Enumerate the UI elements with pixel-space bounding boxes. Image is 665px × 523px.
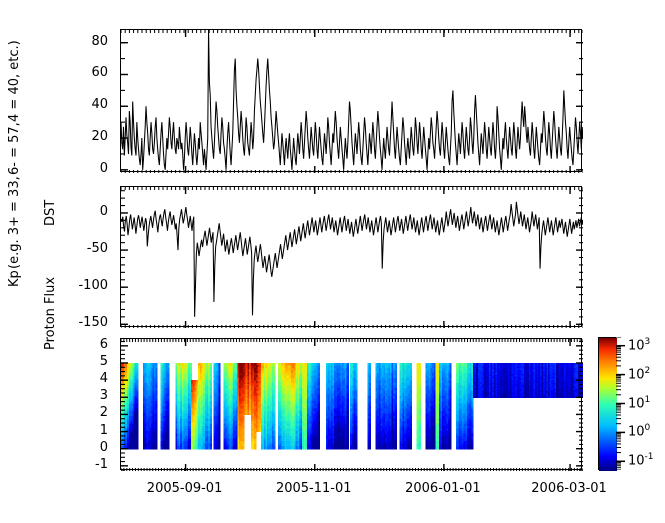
kp-panel-canvas	[121, 30, 583, 173]
y-tick-label: 5	[52, 355, 108, 368]
y-tick-label: 3	[52, 389, 108, 402]
proton-flux-axis-label: Proton Flux	[43, 277, 58, 350]
y-tick-label: 2	[52, 406, 108, 419]
kp-axis-label-line: (e.g. 3+ = 33,	[8, 176, 22, 269]
colorbar-tick-exponent: 0	[645, 423, 651, 433]
colorbar-tick-mantissa: 10	[628, 454, 645, 469]
y-tick-label: 1	[52, 424, 108, 437]
kp-panel	[120, 29, 582, 172]
x-tick-label: 2005-11-01	[259, 482, 369, 495]
y-tick-label: 0	[52, 441, 108, 454]
colorbar-tick-mantissa: 10	[628, 367, 645, 382]
figure-canvas: 020406080Kp(e.g. 3+ = 33,6- = 57,4 = 40,…	[0, 0, 665, 523]
colorbar-tick-label: 102	[628, 366, 650, 382]
colorbar-tick-mantissa: 10	[628, 338, 645, 353]
colorbar-tick-label: 100	[628, 423, 650, 439]
dst-series-line	[121, 202, 583, 317]
y-tick-label: 0	[52, 205, 108, 218]
y-tick-label: -50	[52, 242, 108, 255]
x-tick-label: 2006-03-01	[514, 482, 624, 495]
dst-axis-label: DST	[43, 200, 58, 226]
dst-panel-canvas	[121, 187, 583, 328]
colorbar-tick-mantissa: 10	[628, 425, 645, 440]
colorbar-tick-exponent: 2	[645, 366, 651, 376]
colorbar-tick-label: 101	[628, 395, 650, 411]
kp-axis-label-line: 4 = 40, etc.)	[8, 40, 22, 122]
colorbar-tick-exponent: -1	[645, 452, 654, 462]
kp-series-line	[121, 30, 583, 170]
colorbar-tick-label: 10-1	[628, 452, 654, 468]
colorbar-gradient	[599, 338, 617, 471]
kp-axis-label: Kp(e.g. 3+ = 33,6- = 57,4 = 40, etc.)	[8, 40, 68, 160]
x-tick-label: 2006-01-01	[388, 482, 498, 495]
kp-axis-label-line: Kp	[8, 270, 22, 287]
y-tick-label: 0	[52, 162, 108, 175]
colorbar-tick-exponent: 1	[645, 395, 651, 405]
y-tick-label: -150	[52, 316, 108, 329]
kp-axis-label-line: 6- = 57,	[8, 123, 22, 176]
x-tick-label: 2005-09-01	[130, 482, 240, 495]
colorbar-tick-exponent: 3	[645, 337, 651, 347]
y-tick-label: 4	[52, 372, 108, 385]
proton-flux-panel	[120, 338, 582, 470]
y-tick-label: -1	[52, 458, 108, 471]
colorbar-tick-label: 103	[628, 337, 650, 353]
y-tick-label: 6	[52, 338, 108, 351]
colorbar	[598, 337, 616, 470]
y-tick-label: -100	[52, 279, 108, 292]
proton-flux-panel-canvas	[121, 339, 583, 471]
colorbar-tick-mantissa: 10	[628, 396, 645, 411]
dst-panel	[120, 186, 582, 327]
proton-flux-heatmap	[121, 363, 583, 449]
